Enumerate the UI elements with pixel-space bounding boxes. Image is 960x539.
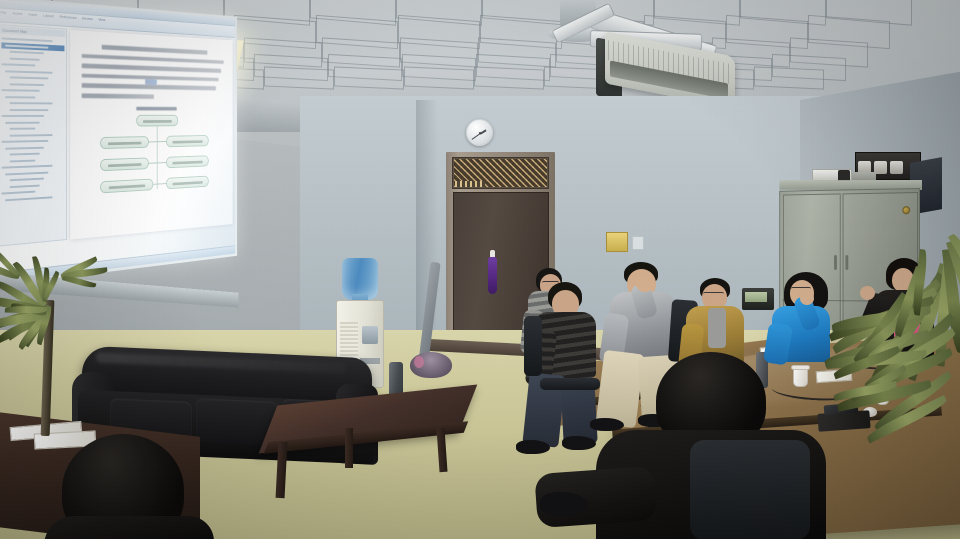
chair[interactable] bbox=[524, 316, 542, 376]
outline-item-list[interactable] bbox=[1, 35, 64, 203]
hand bbox=[800, 292, 814, 305]
office-chair-back[interactable] bbox=[690, 440, 810, 539]
org-chart bbox=[100, 115, 209, 195]
ribbon-tab[interactable]: Layout bbox=[43, 13, 53, 19]
projected-document: FileHomeInsertLayoutReferencesReviewView… bbox=[0, 0, 235, 283]
plant-leaf bbox=[5, 306, 47, 314]
org-node-right bbox=[166, 155, 209, 168]
document-text-line bbox=[82, 93, 154, 98]
umbrella-icon bbox=[488, 250, 497, 294]
hand bbox=[860, 286, 875, 300]
outline-item-label bbox=[10, 83, 44, 86]
outline-item-label bbox=[1, 63, 35, 67]
ceiling-tile bbox=[404, 66, 474, 89]
document-page bbox=[70, 30, 232, 240]
document-text-line bbox=[101, 45, 207, 55]
org-connector bbox=[152, 183, 166, 185]
cabinet-handle[interactable] bbox=[834, 255, 837, 270]
wall-plate bbox=[632, 236, 644, 250]
ceiling-tile bbox=[754, 66, 824, 89]
document-text-line bbox=[82, 54, 224, 64]
hand bbox=[636, 276, 654, 292]
shoe bbox=[540, 492, 588, 516]
org-chart-title bbox=[136, 106, 176, 110]
org-node-left bbox=[100, 157, 149, 171]
shoe bbox=[590, 418, 624, 431]
dispenser-vent bbox=[340, 322, 358, 360]
document-text-line bbox=[82, 64, 221, 73]
wall-notice-sign bbox=[606, 232, 628, 252]
org-node-root bbox=[136, 115, 178, 127]
glasses-icon bbox=[703, 292, 724, 296]
outline-item-label bbox=[10, 109, 49, 111]
org-connector bbox=[157, 126, 158, 189]
ribbon-tab[interactable]: View bbox=[98, 17, 105, 22]
coffee-table-leg bbox=[345, 428, 353, 468]
inner-shirt bbox=[708, 308, 726, 348]
ribbon-tab[interactable]: Review bbox=[82, 16, 93, 21]
outline-item-label bbox=[5, 121, 40, 124]
org-node-left bbox=[100, 136, 149, 149]
outline-item-label bbox=[1, 89, 39, 92]
dispenser-taps[interactable] bbox=[362, 326, 378, 344]
org-node-right bbox=[166, 135, 209, 147]
mop-accent bbox=[414, 356, 424, 368]
outline-item-label bbox=[10, 76, 49, 79]
shoe bbox=[562, 436, 596, 450]
cup-lid bbox=[791, 365, 810, 370]
outline-item-label bbox=[10, 51, 44, 55]
outline-item-label bbox=[5, 70, 53, 74]
outline-item-label bbox=[5, 146, 44, 149]
meeting-room-photo: FileHomeInsertLayoutReferencesReviewView… bbox=[0, 0, 960, 539]
outline-item-label bbox=[10, 153, 40, 156]
ceiling-tile bbox=[474, 66, 544, 89]
outline-item-label bbox=[10, 159, 36, 162]
wall-clock bbox=[466, 119, 493, 146]
outline-item-label bbox=[10, 102, 53, 105]
shoe bbox=[516, 440, 550, 454]
ribbon-tab[interactable]: File bbox=[0, 9, 6, 14]
outline-item-label bbox=[10, 184, 40, 188]
umbrella-body bbox=[488, 257, 497, 294]
outline-item-label bbox=[10, 128, 36, 131]
outline-item-label bbox=[10, 134, 53, 137]
transom-lower-band bbox=[455, 181, 485, 187]
outline-item-label bbox=[1, 115, 44, 117]
outline-item-label bbox=[1, 140, 48, 143]
chair[interactable] bbox=[540, 378, 600, 390]
glasses-icon bbox=[791, 287, 811, 291]
document-navigation-pane[interactable]: Document Map bbox=[0, 24, 67, 246]
org-node-left bbox=[100, 179, 153, 194]
cabinet-handle[interactable] bbox=[845, 255, 848, 270]
projection-screen: FileHomeInsertLayoutReferencesReviewView… bbox=[0, 0, 237, 286]
outline-item-label bbox=[10, 57, 40, 61]
org-connector bbox=[148, 141, 167, 142]
ribbon-tab[interactable]: Insert bbox=[28, 12, 37, 18]
box-item bbox=[890, 161, 903, 174]
outline-item-label bbox=[5, 196, 53, 201]
highlighted-text-run bbox=[145, 79, 157, 85]
ribbon-tab[interactable]: Home bbox=[13, 10, 23, 16]
cabinet-lock-icon[interactable] bbox=[902, 206, 910, 214]
foreground-person-body-left bbox=[44, 516, 214, 539]
control-panel-display bbox=[745, 292, 767, 302]
outline-item-label bbox=[5, 96, 35, 99]
ceiling-tile bbox=[264, 66, 334, 89]
org-node-right bbox=[166, 176, 209, 190]
ceiling-tile bbox=[334, 66, 404, 89]
document-paragraph bbox=[78, 44, 226, 100]
outline-item-label bbox=[10, 178, 44, 182]
